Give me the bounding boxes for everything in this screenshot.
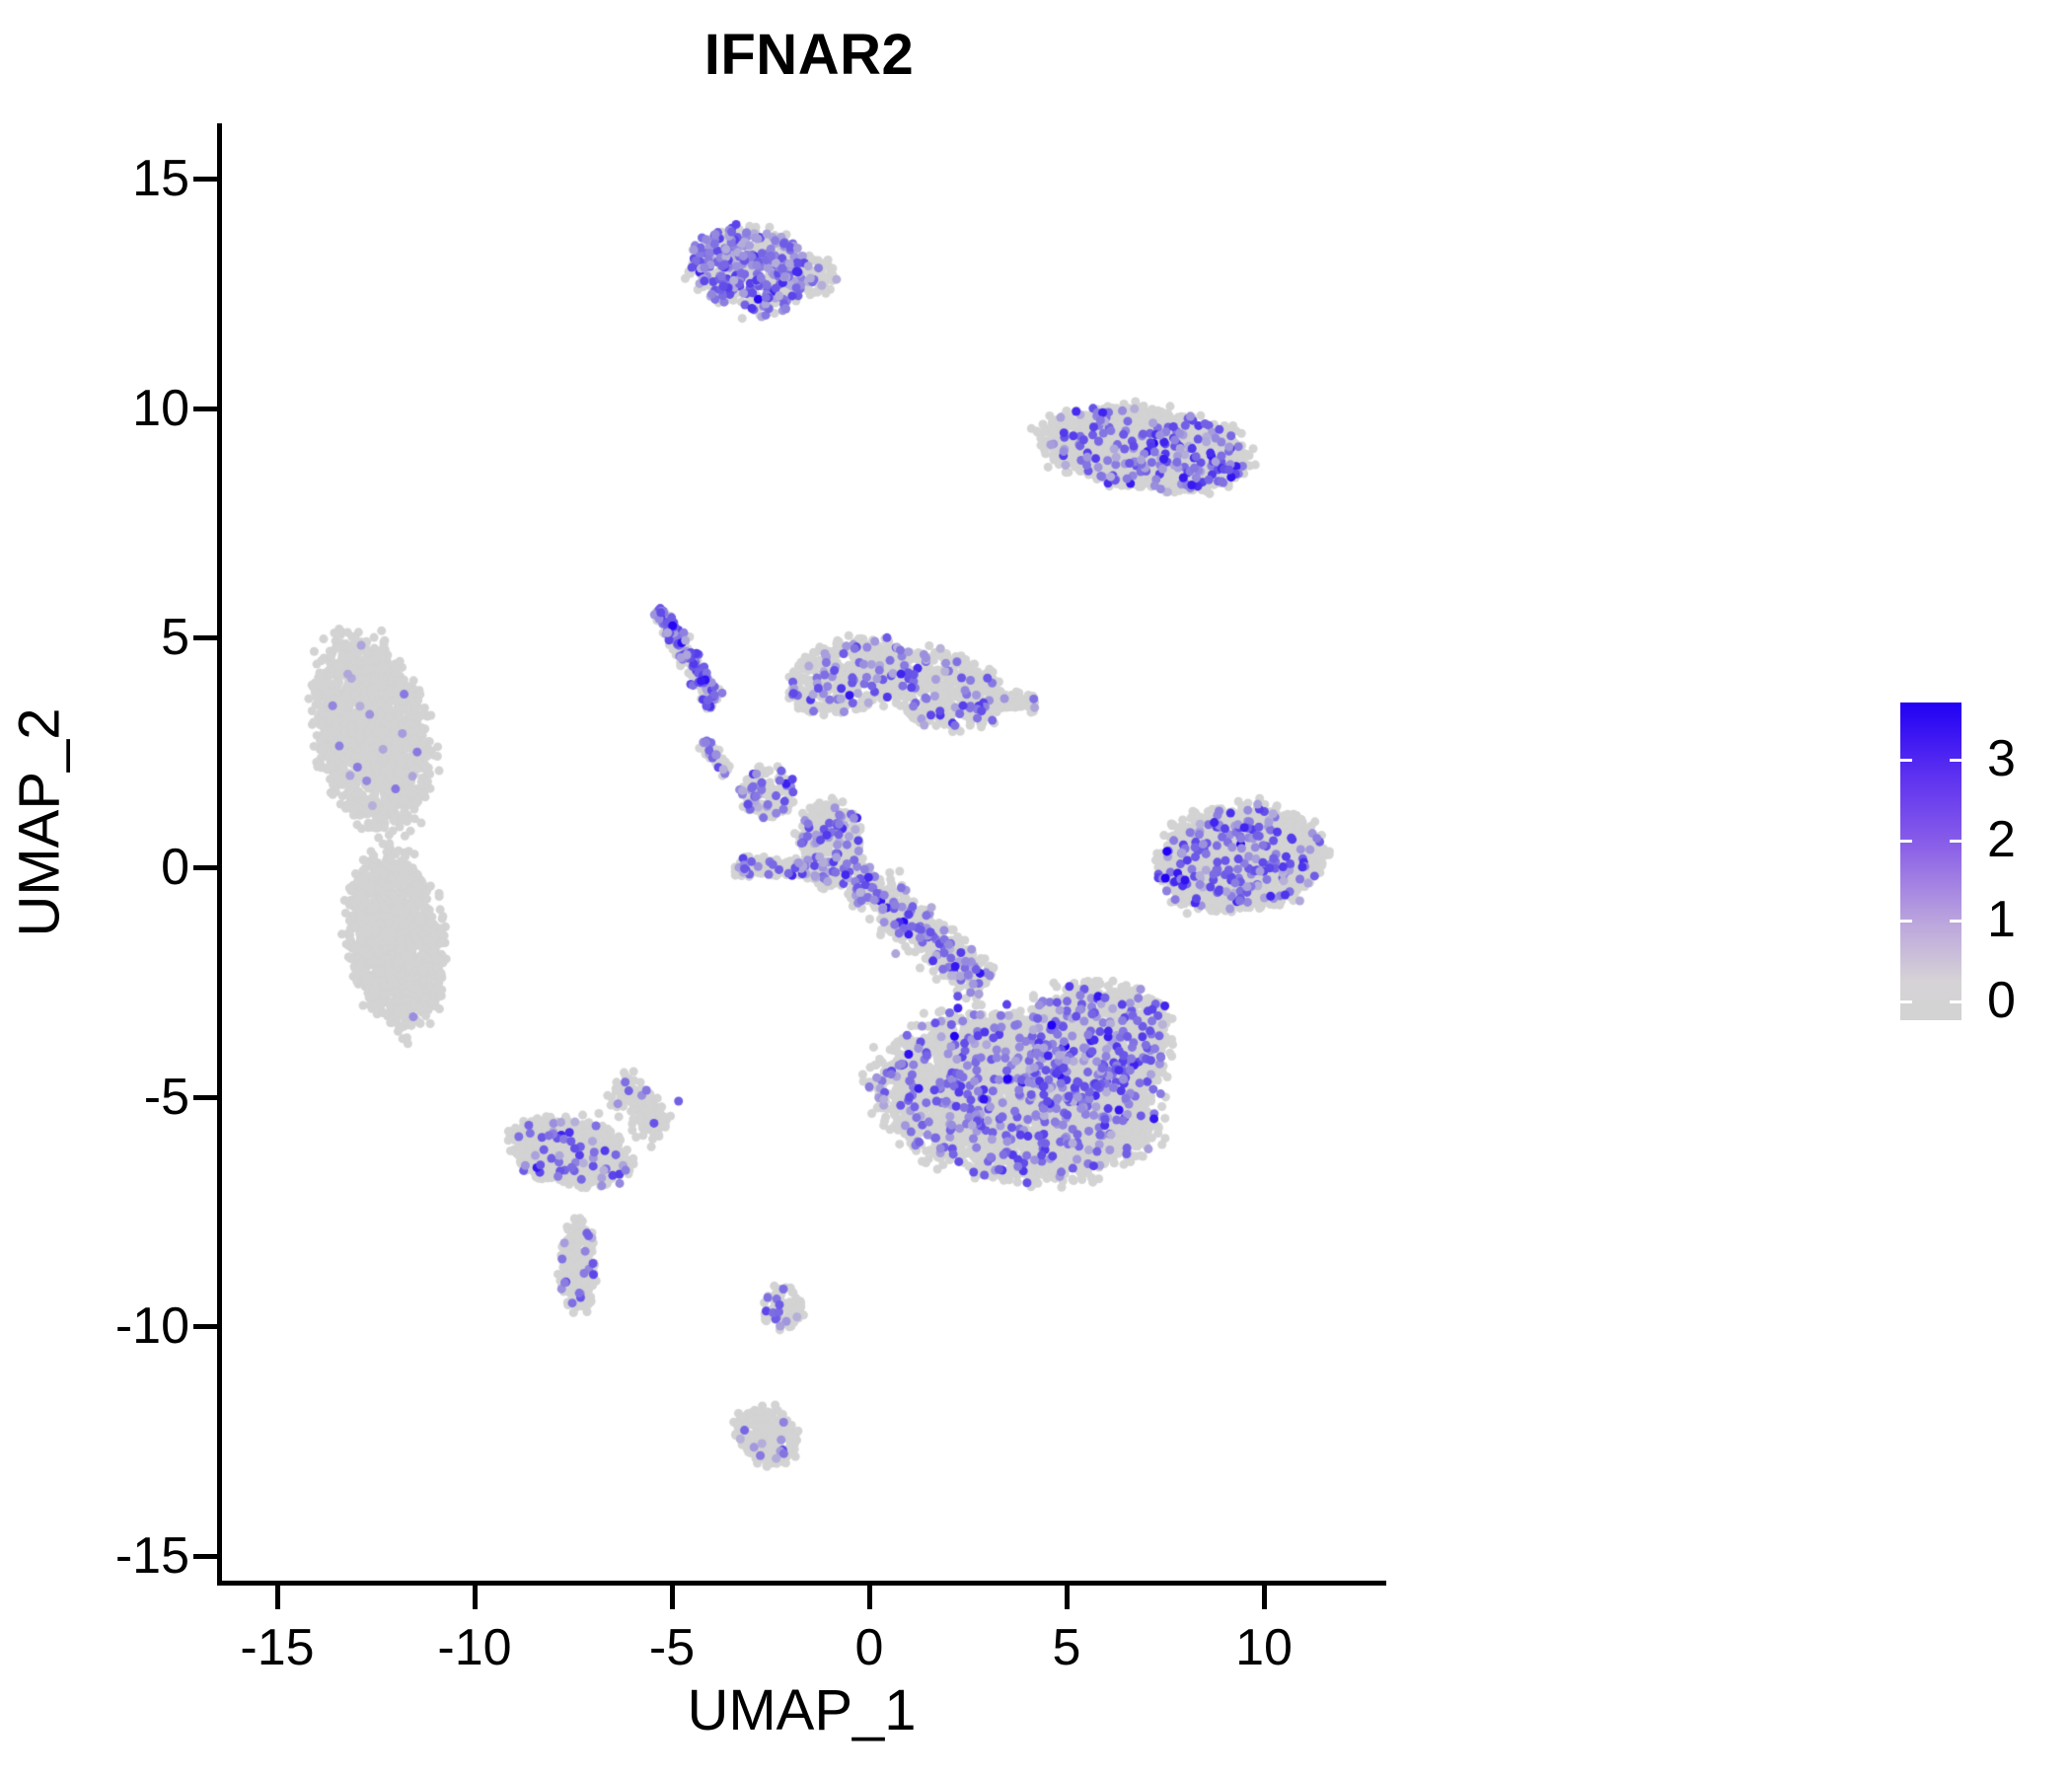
feature-plot-figure: IFNAR2 -15-10-5051015 -15-10-50510 UMAP_… xyxy=(0,0,2072,1776)
y-axis-title: UMAP_2 xyxy=(7,231,73,1415)
y-tick-label: 10 xyxy=(132,379,189,438)
x-tick-mark xyxy=(670,1585,675,1609)
y-tick-label: -5 xyxy=(144,1068,189,1127)
y-tick-label: 5 xyxy=(161,608,189,667)
x-tick-label: 0 xyxy=(855,1618,884,1677)
x-tick-label: -10 xyxy=(437,1618,511,1677)
colorbar-tick-mark xyxy=(1950,759,1961,762)
y-tick-mark xyxy=(193,1095,218,1100)
x-tick-label: 10 xyxy=(1235,1618,1293,1677)
x-axis-line xyxy=(217,1581,1386,1586)
colorbar-tick-mark xyxy=(1900,920,1912,923)
x-tick-mark xyxy=(275,1585,280,1609)
x-axis-title: UMAP_1 xyxy=(217,1677,1386,1743)
x-tick-label: -5 xyxy=(649,1618,695,1677)
x-tick-mark xyxy=(1262,1585,1267,1609)
y-tick-label: -10 xyxy=(115,1296,189,1356)
page-title: IFNAR2 xyxy=(0,22,1618,88)
colorbar-tick-label: 0 xyxy=(1987,971,2016,1030)
y-tick-mark xyxy=(193,407,218,411)
x-tick-label: -15 xyxy=(240,1618,314,1677)
y-tick-mark xyxy=(193,865,218,870)
colorbar-tick-label: 1 xyxy=(1987,890,2016,949)
colorbar-tick-mark xyxy=(1950,1000,1961,1003)
colorbar-tick-mark xyxy=(1950,920,1961,923)
y-tick-label: 15 xyxy=(132,149,189,208)
scatter-plot-canvas xyxy=(218,123,1382,1584)
y-tick-mark xyxy=(193,635,218,640)
y-tick-label: 0 xyxy=(161,838,189,897)
colorbar-gradient xyxy=(1900,703,1961,1020)
x-tick-label: 5 xyxy=(1053,1618,1081,1677)
colorbar-tick-mark xyxy=(1900,1000,1912,1003)
colorbar-tick-mark xyxy=(1900,840,1912,843)
y-tick-label: -15 xyxy=(115,1526,189,1586)
y-tick-mark xyxy=(193,177,218,182)
x-tick-mark xyxy=(473,1585,478,1609)
colorbar-tick-label: 2 xyxy=(1987,810,2016,869)
x-tick-mark xyxy=(867,1585,872,1609)
y-axis-line xyxy=(217,123,222,1586)
x-tick-mark xyxy=(1065,1585,1070,1609)
colorbar-legend: 0123 xyxy=(1900,703,2068,1028)
y-tick-mark xyxy=(193,1554,218,1559)
colorbar-tick-label: 3 xyxy=(1987,729,2016,788)
y-tick-mark xyxy=(193,1324,218,1329)
colorbar-tick-mark xyxy=(1950,840,1961,843)
colorbar-tick-mark xyxy=(1900,759,1912,762)
